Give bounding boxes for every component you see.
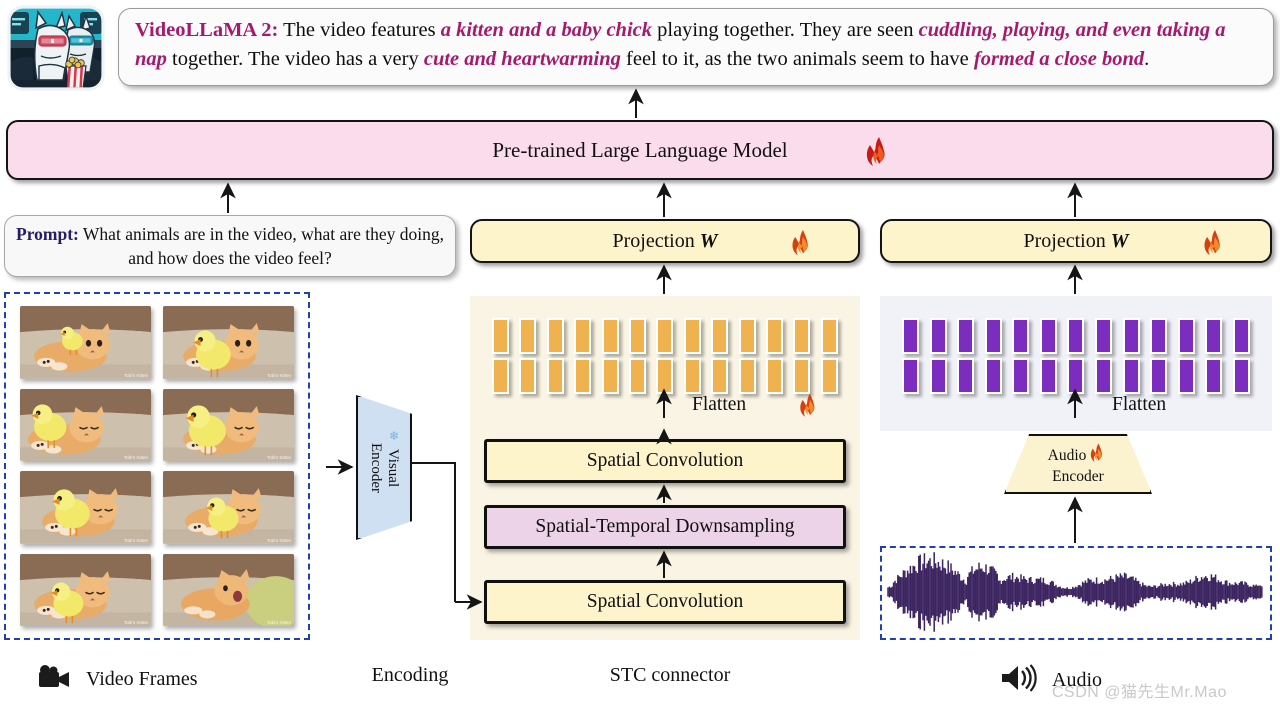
model-response-caption: VideoLLaMA 2: The video features a kitte…: [118, 8, 1274, 86]
audio-token: [902, 318, 919, 354]
caption-segment: .: [1144, 48, 1149, 70]
visual-token: [821, 358, 838, 394]
visual-encoder-block[interactable]: VisualEncoder ❄: [356, 395, 412, 540]
audio-token: [1040, 358, 1057, 394]
caption-segment: playing together. They are seen: [652, 19, 919, 41]
frame-watermark: Tobi's Kitten: [267, 620, 291, 625]
frame-watermark: Tobi's Kitten: [267, 455, 291, 460]
videollama-logo: [6, 4, 106, 92]
visual-token: [793, 318, 810, 354]
visual-token: [684, 358, 701, 394]
frame-watermark: Tobi's Kitten: [267, 538, 291, 543]
video-camera-icon: [38, 664, 72, 695]
video-frame: Tobi's Kitten: [163, 471, 294, 544]
audio-token: [957, 318, 974, 354]
snowflake-icon: ❄: [389, 429, 399, 444]
caption-segment: feel to it, as the two animals seem to h…: [621, 48, 974, 70]
audio-token: [1123, 358, 1140, 394]
audio-token: [1205, 358, 1222, 394]
spatial-convolution-bottom-block[interactable]: Spatial Convolution: [484, 580, 846, 624]
visual-token: [492, 358, 509, 394]
visual-token: [547, 358, 564, 394]
visual-encoder-label: VisualEncoder: [367, 443, 401, 493]
csdn-watermark: CSDN @猫先生Mr.Mao: [1052, 678, 1227, 702]
visual-token: [656, 358, 673, 394]
visual-token: [711, 318, 728, 354]
caption-segment: cute and heartwarming: [424, 48, 621, 70]
visual-token: [574, 358, 591, 394]
frame-watermark: Tobi's Kitten: [124, 538, 148, 543]
prompt-text: What animals are in the video, what are …: [79, 224, 444, 268]
audio-token-row-1: [902, 318, 1250, 354]
visual-token: [602, 318, 619, 354]
visual-token: [684, 318, 701, 354]
prompt-label: Prompt:: [16, 224, 79, 244]
visual-token: [766, 358, 783, 394]
audio-token: [985, 358, 1002, 394]
model-name-label: VideoLLaMA 2:: [135, 19, 278, 41]
diagram-canvas: VideoLLaMA 2: The video features a kitte…: [0, 0, 1280, 708]
fire-icon: [798, 392, 822, 423]
visual-token-row-2: [492, 358, 838, 394]
audio-token: [1095, 358, 1112, 394]
audio-token: [1233, 358, 1250, 394]
visual-token: [739, 358, 756, 394]
audio-token: [985, 318, 1002, 354]
fire-icon: [864, 136, 894, 172]
audio-token: [1123, 318, 1140, 354]
stc-connector-legend-label: STC connector: [560, 664, 780, 687]
audio-encoder-label: Audio Encoder: [1048, 442, 1109, 486]
audio-waveform-container: [880, 546, 1272, 640]
caption-body: The video features a kitten and a baby c…: [135, 19, 1226, 70]
audio-token: [902, 358, 919, 394]
caption-segment: The video features: [278, 19, 440, 41]
visual-token: [519, 358, 536, 394]
audio-token: [1205, 318, 1222, 354]
video-frame: Tobi's Kitten: [20, 389, 151, 462]
visual-token: [547, 318, 564, 354]
audio-token: [1178, 358, 1195, 394]
frame-watermark: Tobi's Kitten: [267, 373, 291, 378]
spatial-convolution-top-block[interactable]: Spatial Convolution: [484, 439, 846, 483]
audio-token: [930, 318, 947, 354]
projection-visual-label: Projection W: [612, 230, 717, 253]
encoding-legend-label: Encoding: [330, 664, 490, 687]
visual-token: [793, 358, 810, 394]
encoder-branch-lines: [412, 463, 455, 602]
visual-token: [602, 358, 619, 394]
audio-token: [1178, 318, 1195, 354]
projection-visual-block[interactable]: Projection W: [470, 219, 860, 263]
visual-token: [629, 318, 646, 354]
video-frames-legend-label: Video Frames: [86, 668, 198, 691]
fire-icon: [1202, 229, 1228, 261]
audio-token: [957, 358, 974, 394]
visual-token: [711, 358, 728, 394]
visual-token: [766, 318, 783, 354]
fire-icon: [790, 229, 816, 261]
video-frames-container: Tobi's KittenTobi's KittenTobi's KittenT…: [4, 292, 310, 640]
caption-segment: a kitten and a baby chick: [441, 19, 652, 41]
audio-token: [1150, 318, 1167, 354]
visual-token-row-1: [492, 318, 838, 354]
llm-label: Pre-trained Large Language Model: [492, 138, 787, 163]
spatial-convolution-top-label: Spatial Convolution: [587, 450, 744, 472]
speaker-icon: [1000, 664, 1038, 697]
visual-token: [519, 318, 536, 354]
audio-token: [1040, 318, 1057, 354]
video-frame: Tobi's Kitten: [163, 389, 294, 462]
prompt-box[interactable]: Prompt: What animals are in the video, w…: [4, 215, 456, 277]
video-frames-legend: Video Frames: [38, 664, 278, 695]
audio-token: [1067, 318, 1084, 354]
audio-token: [1012, 318, 1029, 354]
audio-token: [1095, 318, 1112, 354]
flatten-visual-label: Flatten: [692, 394, 746, 416]
audio-token-panel: [880, 296, 1272, 431]
audio-token: [1067, 358, 1084, 394]
frame-watermark: Tobi's Kitten: [124, 455, 148, 460]
spatial-temporal-downsampling-block[interactable]: Spatial-Temporal Downsampling: [484, 505, 846, 549]
fire-icon: [1089, 442, 1108, 468]
audio-token: [1012, 358, 1029, 394]
llm-block[interactable]: Pre-trained Large Language Model: [6, 120, 1274, 180]
projection-audio-label: Projection W: [1023, 230, 1128, 253]
projection-audio-block[interactable]: Projection W: [880, 219, 1272, 263]
audio-token: [1150, 358, 1167, 394]
visual-token: [739, 318, 756, 354]
visual-token: [656, 318, 673, 354]
caption-segment: formed a close bond: [974, 48, 1144, 70]
audio-waveform: [882, 548, 1268, 636]
visual-token: [574, 318, 591, 354]
video-frame: Tobi's Kitten: [163, 306, 294, 379]
frame-watermark: Tobi's Kitten: [124, 373, 148, 378]
visual-token: [821, 318, 838, 354]
visual-token: [629, 358, 646, 394]
frame-watermark: Tobi's Kitten: [124, 620, 148, 625]
spatial-convolution-bottom-label: Spatial Convolution: [587, 591, 744, 613]
caption-segment: together. The video has a very: [167, 48, 424, 70]
visual-token: [492, 318, 509, 354]
audio-token: [1233, 318, 1250, 354]
audio-token: [930, 358, 947, 394]
audio-encoder-block[interactable]: Audio Encoder: [1004, 434, 1152, 494]
flatten-audio-label: Flatten: [1112, 394, 1166, 416]
video-frame: Tobi's Kitten: [20, 554, 151, 627]
spatial-temporal-downsampling-label: Spatial-Temporal Downsampling: [535, 516, 794, 538]
video-frame: Tobi's Kitten: [20, 471, 151, 544]
video-frame: Tobi's Kitten: [20, 306, 151, 379]
audio-token-row-2: [902, 358, 1250, 394]
video-frame: Tobi's Kitten: [163, 554, 294, 627]
